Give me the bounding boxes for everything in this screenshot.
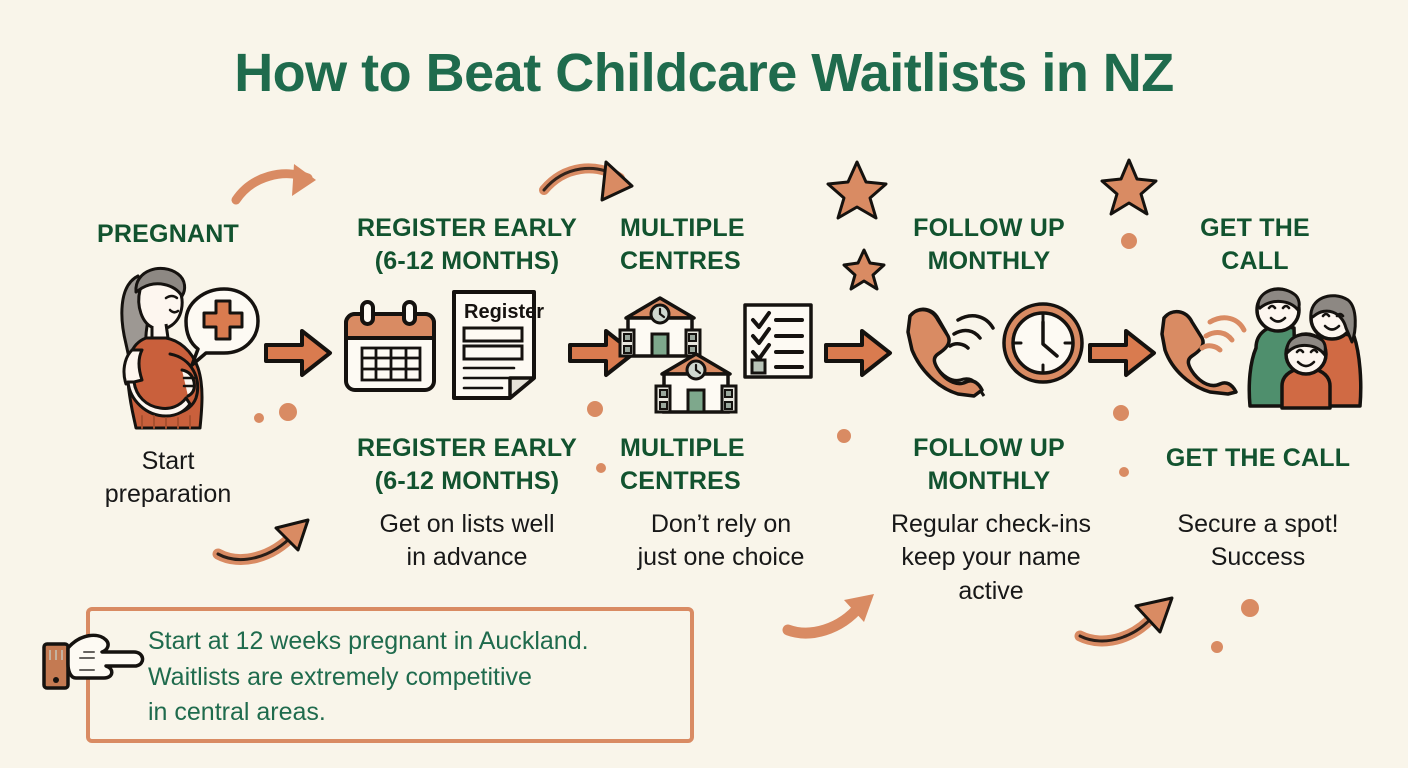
ringing-phone-icon [1152, 302, 1244, 394]
step-3-description: Don’t rely on just one choice [596, 508, 846, 575]
step-4-top-label: FOLLOW UP MONTHLY [884, 212, 1094, 278]
step-2-description: Get on lists well in advance [312, 508, 622, 575]
speech-bubble-cross-icon [182, 285, 262, 367]
clock-icon [1000, 300, 1086, 386]
step-5-description: Secure a spot! Success [1128, 508, 1388, 575]
dot-icon [278, 402, 298, 422]
calendar-icon [340, 300, 440, 398]
curved-arrow-icon [232, 160, 327, 210]
dot-icon [253, 412, 265, 424]
school-building-icon [654, 352, 738, 416]
step-3-mid-label: MULTIPLE CENTRES [620, 432, 820, 498]
dot-icon [1120, 232, 1138, 250]
checklist-icon [740, 300, 816, 382]
dot-icon [586, 400, 604, 418]
star-icon [842, 248, 886, 290]
curved-arrow-icon [212, 512, 322, 572]
step-1-top-label: PREGNANT [48, 218, 288, 251]
step-4-mid-label: FOLLOW UP MONTHLY [884, 432, 1094, 498]
ringing-phone-icon [898, 300, 996, 396]
infographic-canvas: How to Beat Childcare Waitlists in NZ [0, 0, 1408, 768]
page-title: How to Beat Childcare Waitlists in NZ [0, 42, 1408, 104]
dot-icon [836, 428, 852, 444]
arrow-right-icon [822, 325, 894, 381]
note-line-3: in central areas. [148, 695, 708, 731]
school-building-icon [618, 296, 702, 360]
star-icon [1100, 158, 1158, 216]
step-3-top-label: MULTIPLE CENTRES [620, 212, 820, 278]
family-icon [1236, 288, 1366, 410]
dot-icon [1240, 598, 1260, 618]
register-form-label: Register [464, 301, 544, 323]
dot-icon [1112, 404, 1130, 422]
step-5-mid-label: GET THE CALL [1128, 442, 1388, 475]
step-1-description: Start preparation [48, 445, 288, 512]
note-line-1: Start at 12 weeks pregnant in Auckland. [148, 624, 708, 660]
arrow-right-icon [1086, 325, 1158, 381]
curved-arrow-icon [540, 160, 640, 216]
step-2-top-label: REGISTER EARLY (6-12 MONTHS) [322, 212, 612, 278]
step-2-mid-label: REGISTER EARLY (6-12 MONTHS) [322, 432, 612, 498]
note-line-2: Waitlists are extremely competitive [148, 660, 708, 696]
star-icon [826, 160, 888, 220]
step-5-top-label: GET THE CALL [1160, 212, 1350, 278]
arrow-right-icon [262, 325, 334, 381]
pointing-hand-icon [40, 630, 152, 696]
register-form-icon: Register [448, 286, 540, 402]
note-text: Start at 12 weeks pregnant in Auckland. … [148, 624, 708, 731]
dot-icon [1210, 640, 1224, 654]
step-4-description: Regular check-ins keep your name active [860, 508, 1122, 608]
